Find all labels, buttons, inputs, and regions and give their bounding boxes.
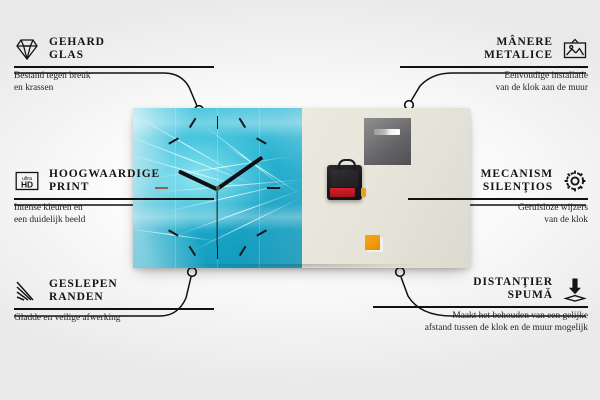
feature-title-line2: METALICE (484, 49, 553, 62)
feature-manere-metalice: MÂNERE METALICE Eenvoudige installatie v… (400, 36, 588, 94)
mechanism-battery (330, 188, 355, 197)
feature-title-line2: SILENŢIOS (481, 181, 553, 194)
gear-icon (562, 168, 588, 194)
feature-desc-line1: Geruisloze wijzers (408, 203, 588, 215)
feature-desc-line1: Eenvoudige installatie (400, 71, 588, 83)
feature-hoogwaardige-print: ultra HD HOOGWAARDIGE PRINT Intense kleu… (14, 168, 214, 226)
feature-desc-line2: van de klok aan de muur (400, 83, 588, 95)
feature-title-line2: RANDEN (49, 291, 118, 304)
feature-desc-line1: Intense kleuren en (14, 203, 214, 215)
feature-title-line1: MÂNERE (484, 36, 553, 49)
feature-divider (373, 306, 588, 308)
feature-title-line1: GESLEPEN (49, 278, 118, 291)
feature-distantier-spuma: DISTANŢIER SPUMĂ Maakt het behouden van … (373, 276, 588, 334)
mechanism-hanger-loop (338, 159, 356, 170)
feature-desc-line2: een duidelijk beeld (14, 215, 214, 227)
hanger-slot (374, 129, 400, 135)
feature-geslepen-randen: GESLEPEN RANDEN Gladde en veilige afwerk… (14, 278, 214, 325)
feature-desc-line2: en krassen (14, 83, 214, 95)
feature-title-line1: MECANISM (481, 168, 553, 181)
clock-second-hand (216, 189, 217, 247)
feature-divider (14, 66, 214, 68)
feature-divider (14, 308, 214, 310)
feature-desc-line2: van de klok (408, 215, 588, 227)
feature-divider (408, 198, 588, 200)
battery-terminal (361, 188, 366, 197)
picture-frame-icon (562, 36, 588, 62)
feature-title-line2: GLAS (49, 49, 105, 62)
mechanism-body-detail (331, 170, 358, 187)
infographic-canvas: GEHARD GLAS Bestand tegen breuk en krass… (0, 0, 600, 400)
feature-mecanism-silentios: MECANISM SILENŢIOS Geruisloze wijzers va… (408, 168, 588, 226)
feature-title-line2: SPUMĂ (473, 289, 553, 302)
feature-desc-line1: Maakt het behouden van een gelijke (373, 311, 588, 323)
feature-gehard-glas: GEHARD GLAS Bestand tegen breuk en krass… (14, 36, 214, 94)
feature-desc-line1: Gladde en veilige afwerking (14, 313, 214, 325)
clock-mechanism (327, 165, 362, 200)
feature-title-line1: DISTANŢIER (473, 276, 553, 289)
feature-desc-line1: Bestand tegen breuk (14, 71, 214, 83)
feature-divider (400, 66, 588, 68)
diamond-icon (14, 36, 40, 62)
feature-desc-line2: afstand tussen de klok en de muur mogeli… (373, 323, 588, 335)
diagonal-lines-icon (14, 278, 40, 304)
svg-text:HD: HD (21, 180, 33, 190)
foam-spacer (365, 235, 380, 250)
feature-title-line1: GEHARD (49, 36, 105, 49)
feature-title-line2: PRINT (49, 181, 160, 194)
feature-title-line1: HOOGWAARDIGE (49, 168, 160, 181)
clock-minute-hand (216, 156, 263, 190)
ultra-hd-icon: ultra HD (14, 168, 40, 194)
clock-pivot (216, 186, 220, 190)
metal-hanger-swatch (364, 118, 411, 165)
arrow-down-layers-icon (562, 276, 588, 302)
feature-divider (14, 198, 214, 200)
